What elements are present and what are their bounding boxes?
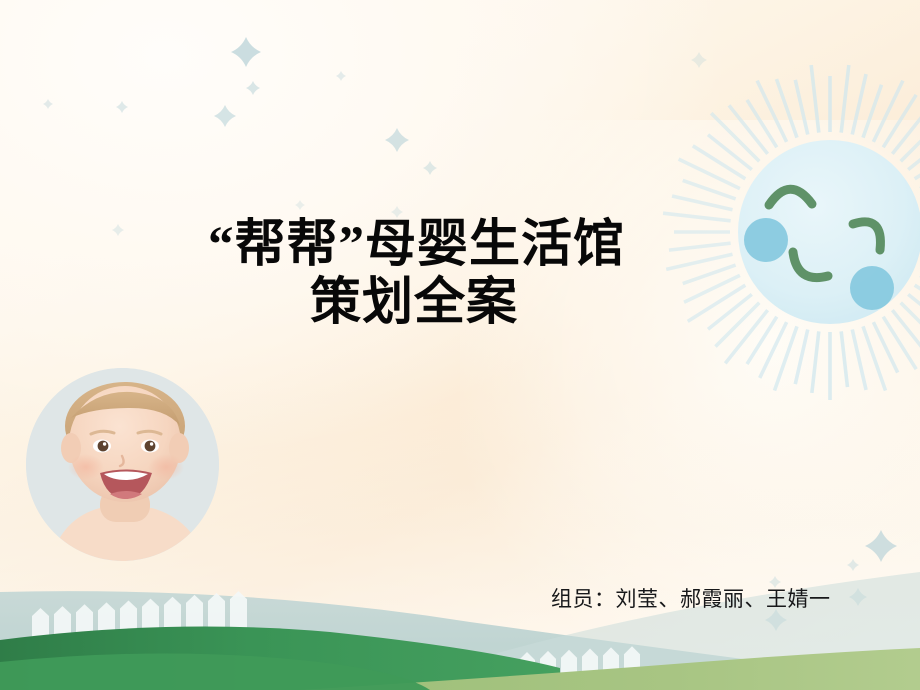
title-line-2: 策划全案: [150, 274, 670, 332]
slide-title: “帮帮”母婴生活馆 策划全案: [150, 216, 670, 332]
baby-photo: [26, 368, 219, 561]
title-slide: “帮帮”母婴生活馆 策划全案 组员：刘莹、郝霞丽、王婧一: [0, 0, 920, 690]
title-line-1: “帮帮”母婴生活馆: [150, 216, 670, 274]
fence-picket: [208, 593, 225, 631]
fence-picket: [230, 591, 247, 629]
slide-subtitle: 组员：刘莹、郝霞丽、王婧一: [551, 586, 831, 612]
